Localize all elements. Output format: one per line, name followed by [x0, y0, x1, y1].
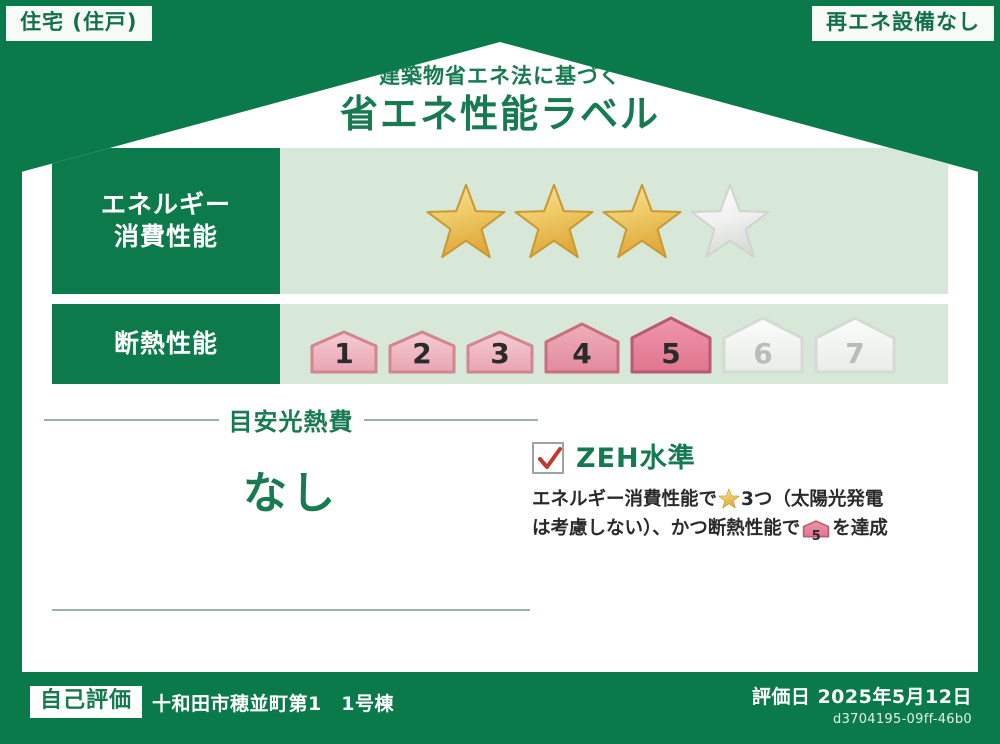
utility-cost-heading: 目安光熱費 [44, 402, 538, 437]
inline-star-icon [718, 488, 740, 509]
thermal-performance-row: 断熱性能 [52, 304, 948, 384]
energy-label-line2: 消費性能 [114, 221, 218, 254]
inline-grade-house: 5 [802, 518, 830, 549]
star-filled-icon [513, 181, 595, 261]
performance-rows: エネルギー 消費性能 [52, 148, 948, 394]
footer-right: 評価日 2025年5月12日 d3704195-09ff-46b0 [752, 682, 972, 727]
footer-left: 自己評価 十和田市穂並町第1 1号棟 [30, 686, 394, 718]
label-card: 建築物省エネ法に基づく 省エネ性能ラベル エネルギー 消費性能 [22, 42, 978, 672]
star-filled-icon [601, 181, 683, 261]
renewable-energy-badge: 再エネ設備なし [812, 6, 994, 41]
thermal-performance-label: 断熱性能 [52, 304, 280, 384]
title-block: 建築物省エネ法に基づく 省エネ性能ラベル [22, 64, 978, 137]
building-type-badge: 住宅 (住戸) [6, 6, 152, 41]
energy-performance-label: 住宅 (住戸) 再エネ設備なし 建築物省エネ法に基づく 省エネ性能ラベル エネル… [0, 0, 1000, 744]
grade-number: 4 [542, 337, 622, 370]
grade-house-6: 6 [720, 312, 806, 376]
zeh-checkbox[interactable] [532, 442, 564, 474]
heading-rule-left [44, 419, 219, 421]
star-filled-icon [425, 181, 507, 261]
title-subtitle: 建築物省エネ法に基づく [22, 64, 978, 89]
grade-house-3: 3 [464, 326, 536, 376]
grade-number: 6 [720, 337, 806, 370]
grade-scale: 1 2 [308, 312, 898, 376]
energy-performance-row: エネルギー 消費性能 [52, 148, 948, 294]
evaluation-date: 評価日 2025年5月12日 [752, 682, 972, 709]
star-rating [425, 181, 771, 261]
utility-cost-title: 目安光熱費 [229, 402, 354, 437]
evaluation-date-value: 2025年5月12日 [817, 686, 972, 708]
energy-label-line1: エネルギー [101, 189, 231, 222]
thermal-label-text: 断熱性能 [114, 328, 218, 361]
check-icon [537, 446, 563, 472]
grade-number: 3 [464, 337, 536, 370]
grade-house-5: 5 [628, 312, 714, 376]
thermal-performance-body: 1 2 [280, 304, 948, 384]
zeh-section: ZEH水準 エネルギー消費性能で3つ（太陽光発電 は考慮しない）、かつ断熱性能で… [532, 442, 952, 548]
zeh-desc-part3: は考慮しない）、かつ断熱性能で [532, 518, 800, 539]
grade-number: 1 [308, 337, 380, 370]
energy-performance-label: エネルギー 消費性能 [52, 148, 280, 294]
zeh-desc-part2: 3つ（太陽光発電 [741, 489, 883, 510]
utility-cost-bottom-rule [52, 609, 530, 611]
grade-house-4: 4 [542, 318, 622, 376]
zeh-description: エネルギー消費性能で3つ（太陽光発電 は考慮しない）、かつ断熱性能で5を達成 [532, 486, 952, 548]
grade-number: 5 [628, 337, 714, 370]
star-empty-icon [689, 181, 771, 261]
grade-house-7: 7 [812, 312, 898, 376]
zeh-desc-part4: を達成 [832, 518, 888, 539]
utility-cost-value: なし [44, 457, 538, 521]
inline-grade-number: 5 [802, 527, 830, 547]
grade-number: 7 [812, 337, 898, 370]
grade-house-2: 2 [386, 326, 458, 376]
zeh-desc-part1: エネルギー消費性能で [532, 489, 717, 510]
evaluation-date-label: 評価日 [752, 686, 811, 708]
zeh-header: ZEH水準 [532, 442, 952, 474]
zeh-title: ZEH水準 [576, 445, 696, 472]
page-title: 省エネ性能ラベル [22, 93, 978, 137]
grade-number: 2 [386, 337, 458, 370]
energy-performance-body [280, 148, 948, 294]
label-footer: 自己評価 十和田市穂並町第1 1号棟 評価日 2025年5月12日 d37041… [0, 672, 1000, 744]
grade-house-1: 1 [308, 326, 380, 376]
evaluation-type-badge: 自己評価 [30, 686, 142, 718]
document-id: d3704195-09ff-46b0 [752, 712, 972, 727]
property-address: 十和田市穂並町第1 1号棟 [152, 689, 394, 716]
heading-rule-right [364, 419, 539, 421]
